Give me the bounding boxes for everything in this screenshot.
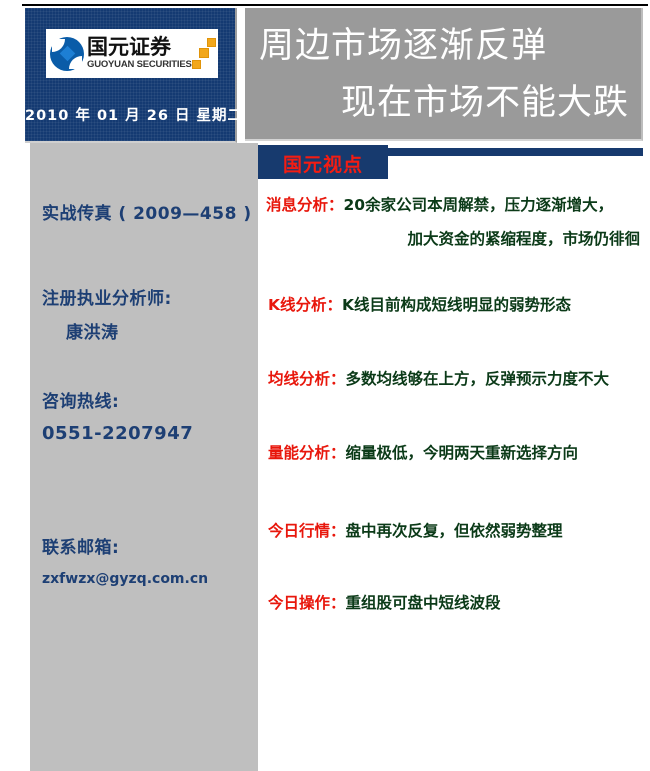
entry-label: 今日行情： [268,522,346,540]
publication-date: 2010 年 01 月 26 日 星期二 [25,104,235,125]
entry-label: 今日操作： [268,594,346,612]
entry-label: K线分析： [268,296,342,314]
masthead-panel: 国元证券 GUOYUAN SECURITIES 2010 年 01 月 26 日… [25,8,237,143]
viewpoint-entry: 均线分析：多数均线够在上方，反弹预示力度不大 [268,367,650,389]
entry-value: 重组股可盘中短线波段 [346,594,501,612]
viewpoint-entry: 今日操作：重组股可盘中短线波段 [268,591,650,613]
logo-text-group: 国元证券 GUOYUAN SECURITIES [84,37,192,70]
logo-company-name-cn: 国元证券 [87,37,192,58]
viewpoint-entry: K线分析：K线目前构成短线明显的弱势形态 [268,293,650,315]
headline-line-2: 现在市场不能大跌 [255,75,631,132]
top-divider-rule [22,4,648,6]
entry-label: 消息分析： [266,196,344,214]
email-address: zxfwzx@gyzq.com.cn [42,571,270,587]
hotline-label: 咨询热线: [42,387,270,412]
entry-value: 缩量极低，今明两天重新选择方向 [346,444,579,462]
email-label: 联系邮箱: [42,533,270,558]
logo-squares-icon [192,35,218,73]
viewpoint-entry: 量能分析：缩量极低，今明两天重新选择方向 [268,441,650,463]
entry-value: 多数均线够在上方，反弹预示力度不大 [346,370,610,388]
entry-label: 均线分析： [268,370,346,388]
headline-panel: 周边市场逐渐反弹 现在市场不能大跌 [245,8,643,141]
guoyuan-emblem-icon [50,37,84,71]
entry-value: 盘中再次反复，但依然弱势整理 [346,522,563,540]
company-logo: 国元证券 GUOYUAN SECURITIES [46,29,218,78]
entry-value: K线目前构成短线明显的弱势形态 [342,296,571,314]
viewpoint-tab-label: 国元视点 [258,150,388,177]
analyst-label: 注册执业分析师: [42,284,270,309]
entry-value: 20余家公司本周解禁，压力逐渐增大， [344,196,614,214]
headline-line-1: 周边市场逐渐反弹 [255,18,631,75]
entry-continuation: 加大资金的紧缩程度，市场仍徘徊 [266,227,650,249]
info-sidebar: 实战传真 ( 2009—458 ) 注册执业分析师: 康洪涛 咨询热线: 055… [30,143,258,771]
entry-label: 量能分析： [268,444,346,462]
logo-company-name-en: GUOYUAN SECURITIES [87,60,192,70]
hotline-number: 0551-2207947 [42,423,270,444]
viewpoint-entry: 消息分析：20余家公司本周解禁，压力逐渐增大， 加大资金的紧缩程度，市场仍徘徊 [266,193,650,249]
viewpoint-entry: 今日行情：盘中再次反复，但依然弱势整理 [268,519,650,541]
viewpoint-section-tab: 国元视点 [258,145,388,179]
report-title: 实战传真 ( 2009—458 ) [42,199,270,224]
viewpoint-content-panel: 消息分析：20余家公司本周解禁，压力逐渐增大， 加大资金的紧缩程度，市场仍徘徊 … [258,179,650,771]
